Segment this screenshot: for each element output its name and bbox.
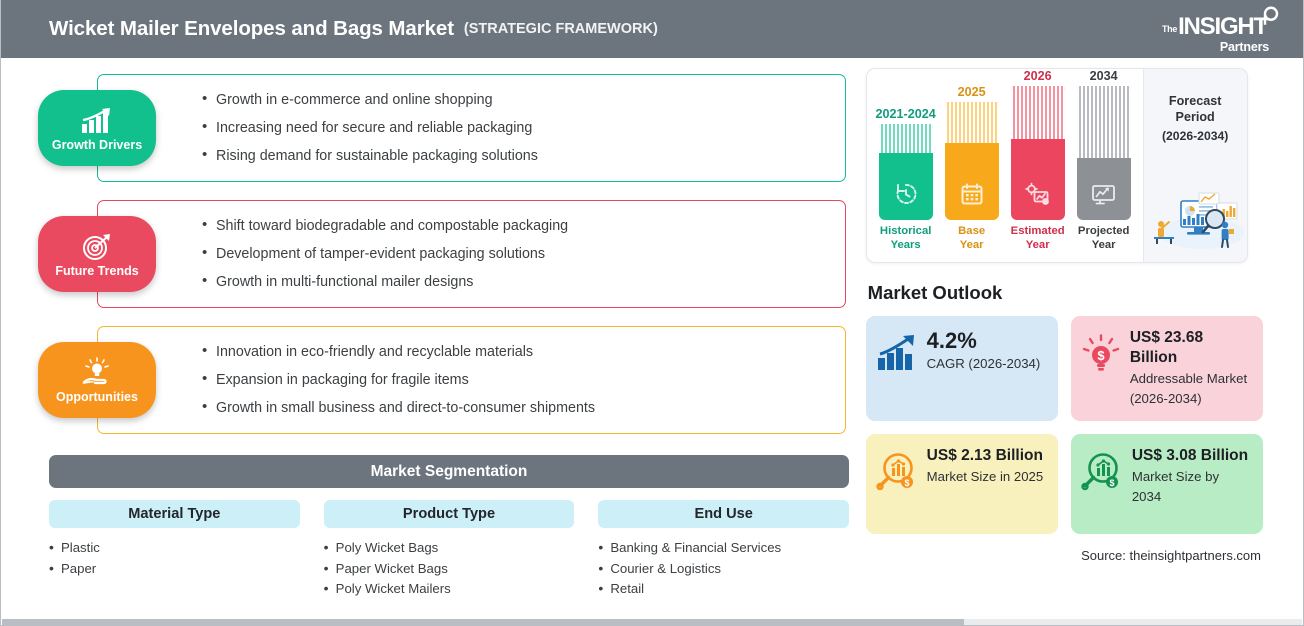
stat-label: Addressable Market (2026-2034): [1130, 369, 1251, 409]
segmentation-header: Material Type: [49, 500, 300, 528]
bar-caption: Base Year: [958, 225, 985, 252]
dollar-lightbulb-icon: $: [1081, 328, 1121, 379]
segmentation-columns: Material Type Plastic Paper Product Type…: [49, 500, 849, 600]
bar-caption: Historical Years: [880, 225, 931, 252]
list-item: Expansion in packaging for fragile items: [202, 366, 829, 394]
source-attribution: Source: theinsightpartners.com: [866, 548, 1263, 563]
list-item: Growth in e-commerce and online shopping: [202, 86, 829, 114]
list-item: Rising demand for sustainable packaging …: [202, 142, 829, 170]
magnifier-dollar-chart-icon: $: [876, 446, 918, 497]
list-item: Poly Wicket Mailers: [324, 579, 575, 600]
page-title: Wicket Mailer Envelopes and Bags Market: [49, 17, 454, 41]
list-item: Growth in small business and direct-to-c…: [202, 394, 829, 422]
list-item: Retail: [598, 579, 849, 600]
segmentation-header: End Use: [598, 500, 849, 528]
stat-card-addressable-market: $ US$ 23.68 Billion Addressable Market (…: [1071, 316, 1263, 421]
bullet-list-future-trends: Shift toward biodegradable and compostab…: [202, 212, 829, 296]
bar: [1011, 86, 1065, 220]
insight-card-growth-drivers: Growth Drivers Growth in e-commerce and …: [97, 74, 846, 182]
segmentation-column-product-type: Product Type Poly Wicket Bags Paper Wick…: [324, 500, 575, 600]
right-column: 2021-2024 Historical Years: [862, 68, 1303, 625]
stat-label: Market Size in 2025: [927, 467, 1046, 487]
page-body: Growth Drivers Growth in e-commerce and …: [1, 58, 1303, 625]
list-item: Paper: [49, 559, 300, 580]
badge-opportunities[interactable]: Opportunities: [38, 342, 156, 418]
insight-card-future-trends: Future Trends Shift toward biodegradable…: [97, 200, 846, 308]
target-arrow-icon: [81, 231, 113, 261]
badge-label-opportunities: Opportunities: [56, 390, 138, 404]
bullet-list-growth-drivers: Growth in e-commerce and online shopping…: [202, 86, 829, 170]
bar-stripe-top: [879, 124, 933, 153]
list-item: Shift toward biodegradable and compostab…: [202, 212, 829, 240]
bar-chart-arrow-icon: [876, 328, 918, 377]
timeline-bars: 2021-2024 Historical Years: [867, 69, 1143, 262]
logo-partners-text: Partners: [1220, 41, 1269, 54]
segmentation-column-material-type: Material Type Plastic Paper: [49, 500, 300, 600]
horizontal-scrollbar[interactable]: [2, 619, 1302, 625]
bullet-list-opportunities: Innovation in eco-friendly and recyclabl…: [202, 338, 829, 422]
list-item: Innovation in eco-friendly and recyclabl…: [202, 338, 829, 366]
svg-text:$: $: [1109, 478, 1114, 488]
logo-the-text: The: [1162, 25, 1177, 34]
list-item: Plastic: [49, 538, 300, 559]
stat-card-market-size-2025: $ US$ 2.13 Billion Market Size in 2025: [866, 434, 1058, 534]
stat-text: US$ 3.08 Billion Market Size by 2034: [1132, 446, 1251, 507]
bar-year-label: 2025: [958, 85, 986, 99]
forecast-line-3: (2026-2034): [1162, 129, 1228, 143]
bar-caption: Estimated Year: [1011, 225, 1065, 252]
left-column: Growth Drivers Growth in e-commerce and …: [1, 68, 862, 625]
list-item: Courier & Logistics: [598, 559, 849, 580]
market-outlook-title: Market Outlook: [868, 282, 1263, 304]
bar-stripe-top: [945, 102, 999, 143]
magnifier-dollar-chart-icon: $: [1081, 446, 1123, 497]
forecast-line-1: Forecast: [1169, 93, 1222, 109]
stat-value: US$ 23.68 Billion: [1130, 328, 1251, 368]
stat-value: US$ 3.08 Billion: [1132, 446, 1251, 466]
market-outlook-cards: 4.2% CAGR (2026-2034): [866, 316, 1263, 534]
insight-card-opportunities: Opportunities Innovation in eco-friendly…: [97, 326, 846, 434]
stat-value: 4.2%: [927, 328, 1046, 353]
timeline-bar-projected: 2034: [1073, 69, 1135, 256]
market-segmentation: Market Segmentation Material Type Plasti…: [49, 455, 849, 600]
bar-caption: Projected Year: [1078, 225, 1129, 252]
segmentation-header: Product Type: [324, 500, 575, 528]
gear-settings-icon: [1025, 182, 1050, 211]
bar-stripe-top: [1011, 86, 1065, 139]
history-clock-icon: [894, 182, 918, 211]
stat-card-cagr: 4.2% CAGR (2026-2034): [866, 316, 1058, 421]
page-header: Wicket Mailer Envelopes and Bags Market …: [1, 0, 1303, 58]
forecast-line-2: Period: [1176, 109, 1215, 125]
analytics-team-dashboard-illustration: [1147, 189, 1245, 256]
segmentation-list: Plastic Paper: [49, 538, 300, 579]
bar: [1077, 86, 1131, 220]
timeline-bar-base: 2025: [941, 69, 1003, 256]
logo-insight-text: INSIGHT: [1178, 15, 1267, 39]
segmentation-list: Banking & Financial Services Courier & L…: [598, 538, 849, 600]
bar-year-label: 2034: [1090, 69, 1118, 83]
bar: [879, 124, 933, 220]
svg-text:$: $: [904, 478, 909, 488]
forecast-timeline-chart: 2021-2024 Historical Years: [866, 68, 1248, 263]
bar-year-label: 2026: [1024, 69, 1052, 83]
calendar-icon: [960, 182, 984, 211]
badge-growth-drivers[interactable]: Growth Drivers: [38, 90, 156, 166]
hand-lightbulb-icon: [79, 357, 115, 387]
stat-text: US$ 23.68 Billion Addressable Market (20…: [1130, 328, 1251, 409]
stat-text: US$ 2.13 Billion Market Size in 2025: [927, 446, 1046, 487]
infographic-page: Wicket Mailer Envelopes and Bags Market …: [0, 0, 1304, 626]
svg-text:$: $: [1097, 348, 1105, 363]
segmentation-title: Market Segmentation: [49, 455, 849, 488]
badge-label-future-trends: Future Trends: [55, 264, 138, 278]
timeline-bar-historical: 2021-2024 Historical Years: [875, 69, 937, 256]
stat-label: Market Size by 2034: [1132, 467, 1251, 507]
list-item: Paper Wicket Bags: [324, 559, 575, 580]
list-item: Increasing need for secure and reliable …: [202, 114, 829, 142]
segmentation-column-end-use: End Use Banking & Financial Services Cou…: [598, 500, 849, 600]
list-item: Development of tamper-evident packaging …: [202, 240, 829, 268]
logo-arc-icon: [1261, 5, 1281, 31]
stat-text: 4.2% CAGR (2026-2034): [927, 328, 1046, 374]
logo-top-row: The INSIGHT: [1162, 5, 1281, 39]
stat-value: US$ 2.13 Billion: [927, 446, 1046, 466]
list-item: Growth in multi-functional mailer design…: [202, 268, 829, 296]
bar-chart-growth-icon: [80, 105, 114, 135]
forecast-period-panel: Forecast Period (2026-2034): [1143, 69, 1247, 262]
monitor-chart-icon: [1091, 183, 1116, 211]
page-subtitle: (STRATEGIC FRAMEWORK): [464, 21, 658, 37]
stat-card-market-size-2034: $ US$ 3.08 Billion Market Size by 2034: [1071, 434, 1263, 534]
bar-stripe-top: [1077, 86, 1131, 158]
segmentation-list: Poly Wicket Bags Paper Wicket Bags Poly …: [324, 538, 575, 600]
bar: [945, 102, 999, 220]
list-item: Poly Wicket Bags: [324, 538, 575, 559]
badge-label-growth-drivers: Growth Drivers: [52, 138, 142, 152]
timeline-bar-estimated: 2026: [1007, 69, 1069, 256]
list-item: Banking & Financial Services: [598, 538, 849, 559]
insight-partners-logo[interactable]: The INSIGHT Partners: [1162, 5, 1281, 54]
bar-year-label: 2021-2024: [876, 107, 936, 121]
badge-future-trends[interactable]: Future Trends: [38, 216, 156, 292]
stat-label: CAGR (2026-2034): [927, 354, 1046, 374]
